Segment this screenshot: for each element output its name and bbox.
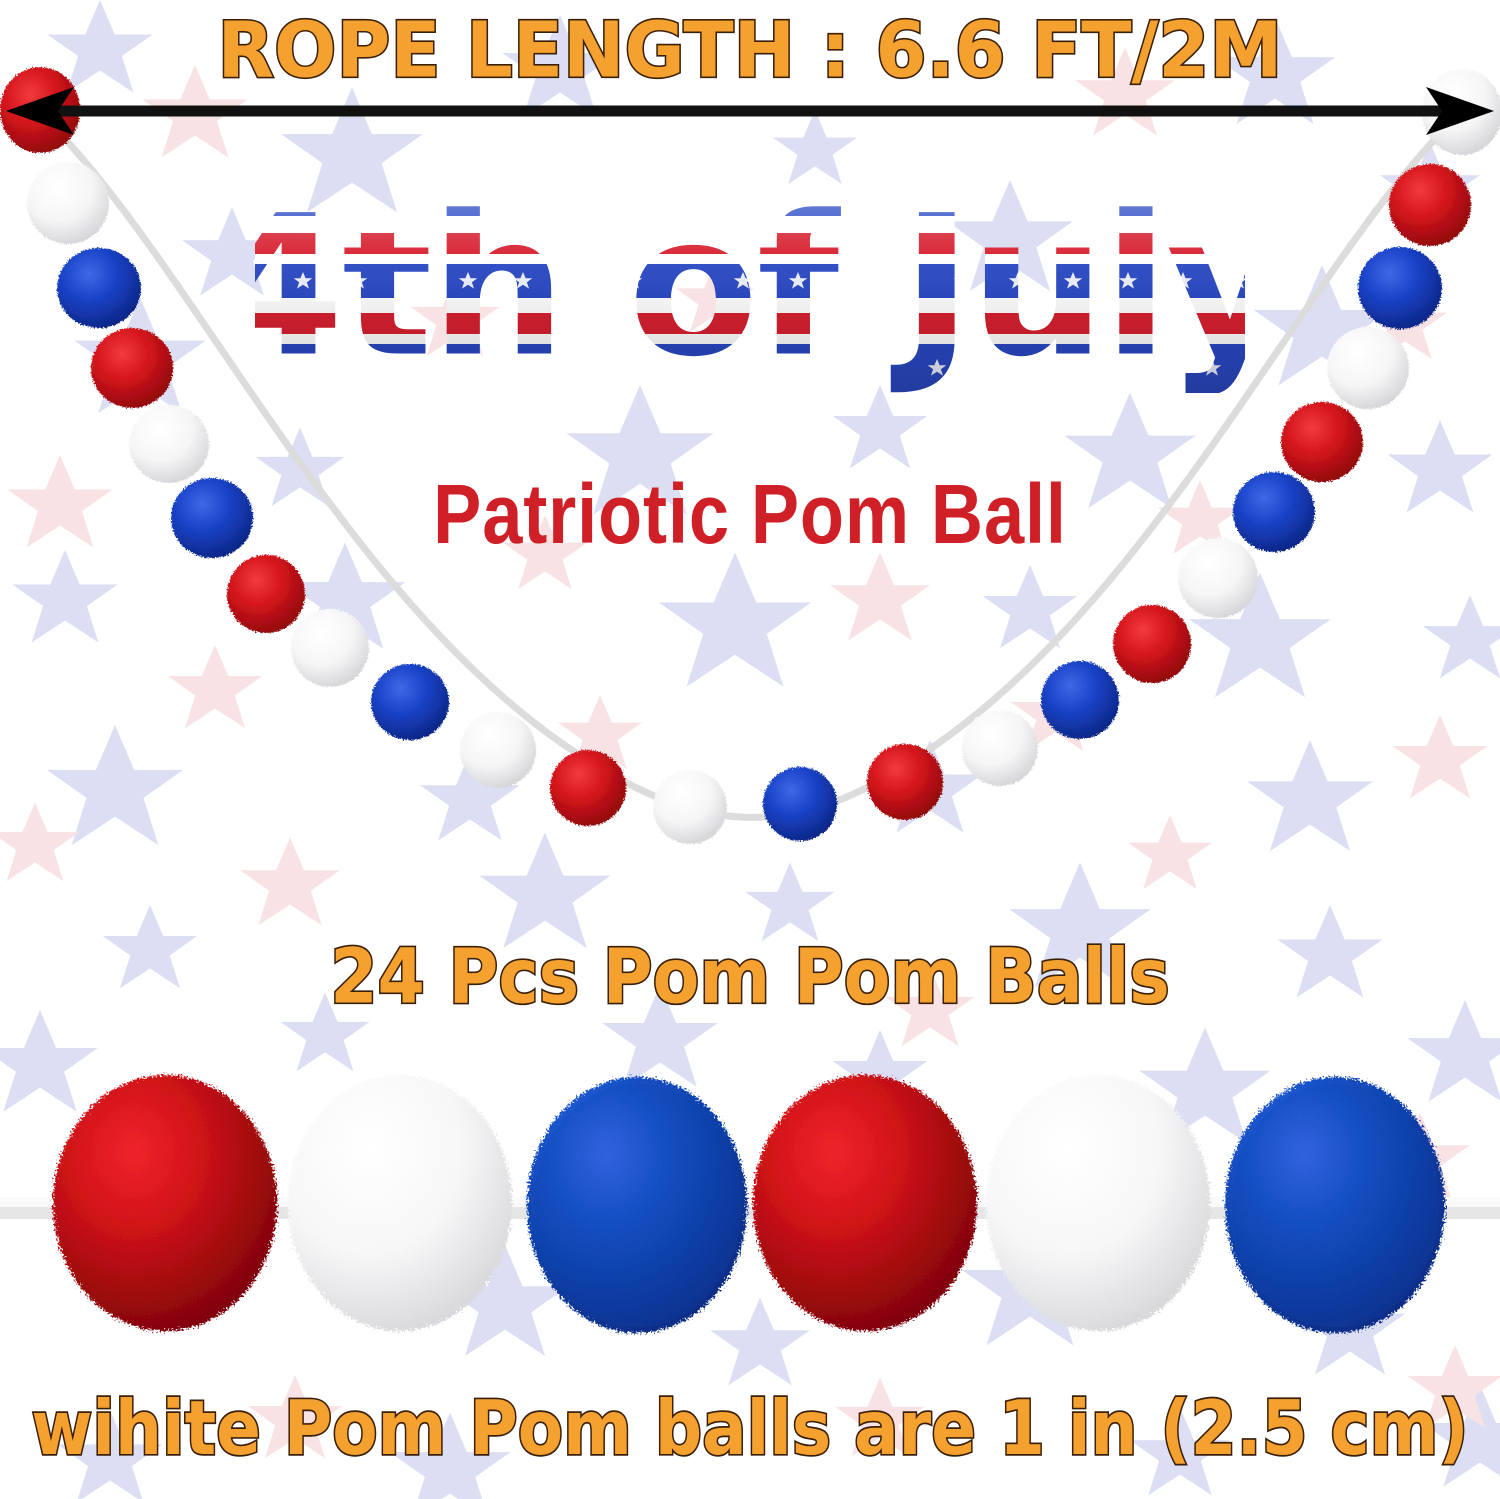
ball-size-label: wihite Pom Pom balls are 1 in (2.5 cm) xyxy=(0,1385,1500,1473)
measure-arrow xyxy=(0,80,1500,144)
product-infographic: ROPE LENGTH : 6.6 FT/2M xyxy=(0,0,1500,1499)
large-pom-ball-row xyxy=(0,1040,1500,1370)
piece-count-label: 24 Pcs Pom Pom Balls xyxy=(0,933,1500,1021)
title-4th-of-july: 4th of July xyxy=(255,178,1245,393)
product-subtitle: Patriotic Pom Ball xyxy=(105,466,1395,563)
